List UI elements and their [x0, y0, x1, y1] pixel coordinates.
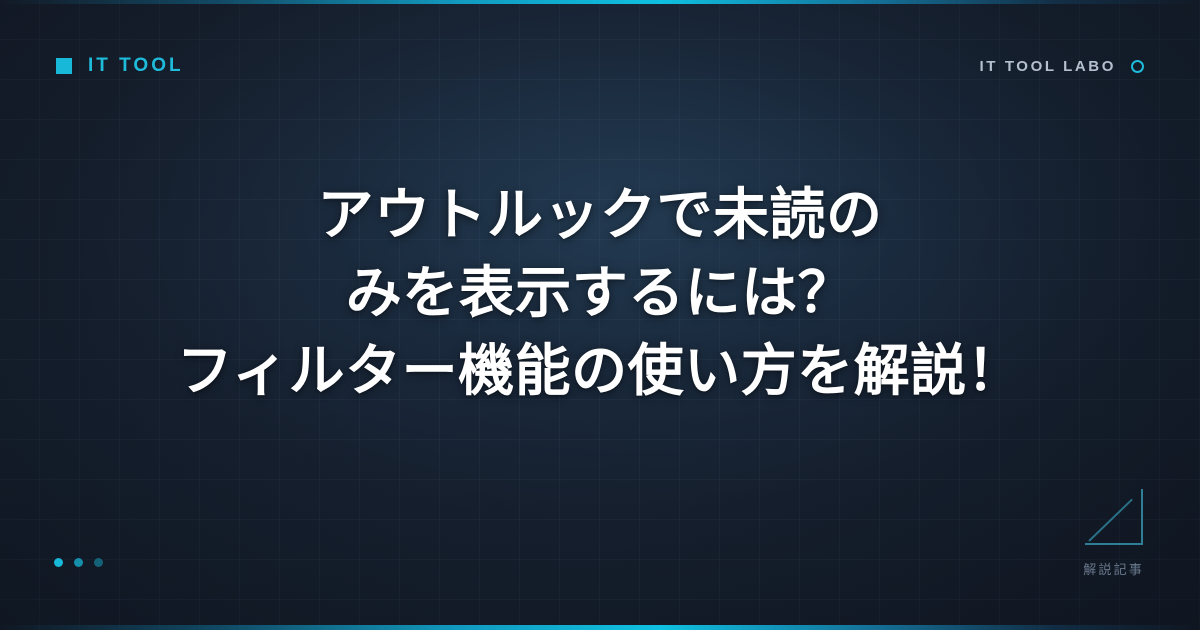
- accent-bar-bottom: [0, 625, 1200, 630]
- og-image-card: IT TOOL IT TOOL LABO アウトルックで未読の みを表示するには…: [0, 0, 1200, 630]
- header: IT TOOL IT TOOL LABO: [0, 0, 1200, 132]
- brand-logo[interactable]: IT TOOL: [56, 55, 184, 77]
- dot-3: [94, 558, 103, 567]
- brand-label: IT TOOL: [88, 55, 184, 77]
- corner-right-line: [1141, 489, 1143, 545]
- corner-bottom-line: [1085, 543, 1143, 545]
- dot-indicator-group: [54, 558, 103, 567]
- corner-diagonal-line: [1088, 499, 1133, 542]
- site-label-text: IT TOOL LABO: [980, 58, 1116, 75]
- circle-outline-icon: [1131, 60, 1144, 73]
- article-type-badge: 解説記事: [1083, 489, 1144, 578]
- title-line-3: フィルター機能の使い方を解説！: [177, 334, 1023, 410]
- dot-1: [54, 558, 63, 567]
- page-title: アウトルックで未読の みを表示するには？ フィルター機能の使い方を解説！: [0, 178, 1200, 410]
- article-type-label: 解説記事: [1083, 559, 1144, 578]
- title-line-1: アウトルックで未読の: [318, 178, 883, 254]
- angle-bracket-corner-icon: [1085, 489, 1143, 545]
- site-label[interactable]: IT TOOL LABO: [980, 58, 1144, 75]
- square-icon: [56, 58, 72, 74]
- dot-2: [74, 558, 83, 567]
- title-line-2: みを表示するには？: [346, 256, 855, 332]
